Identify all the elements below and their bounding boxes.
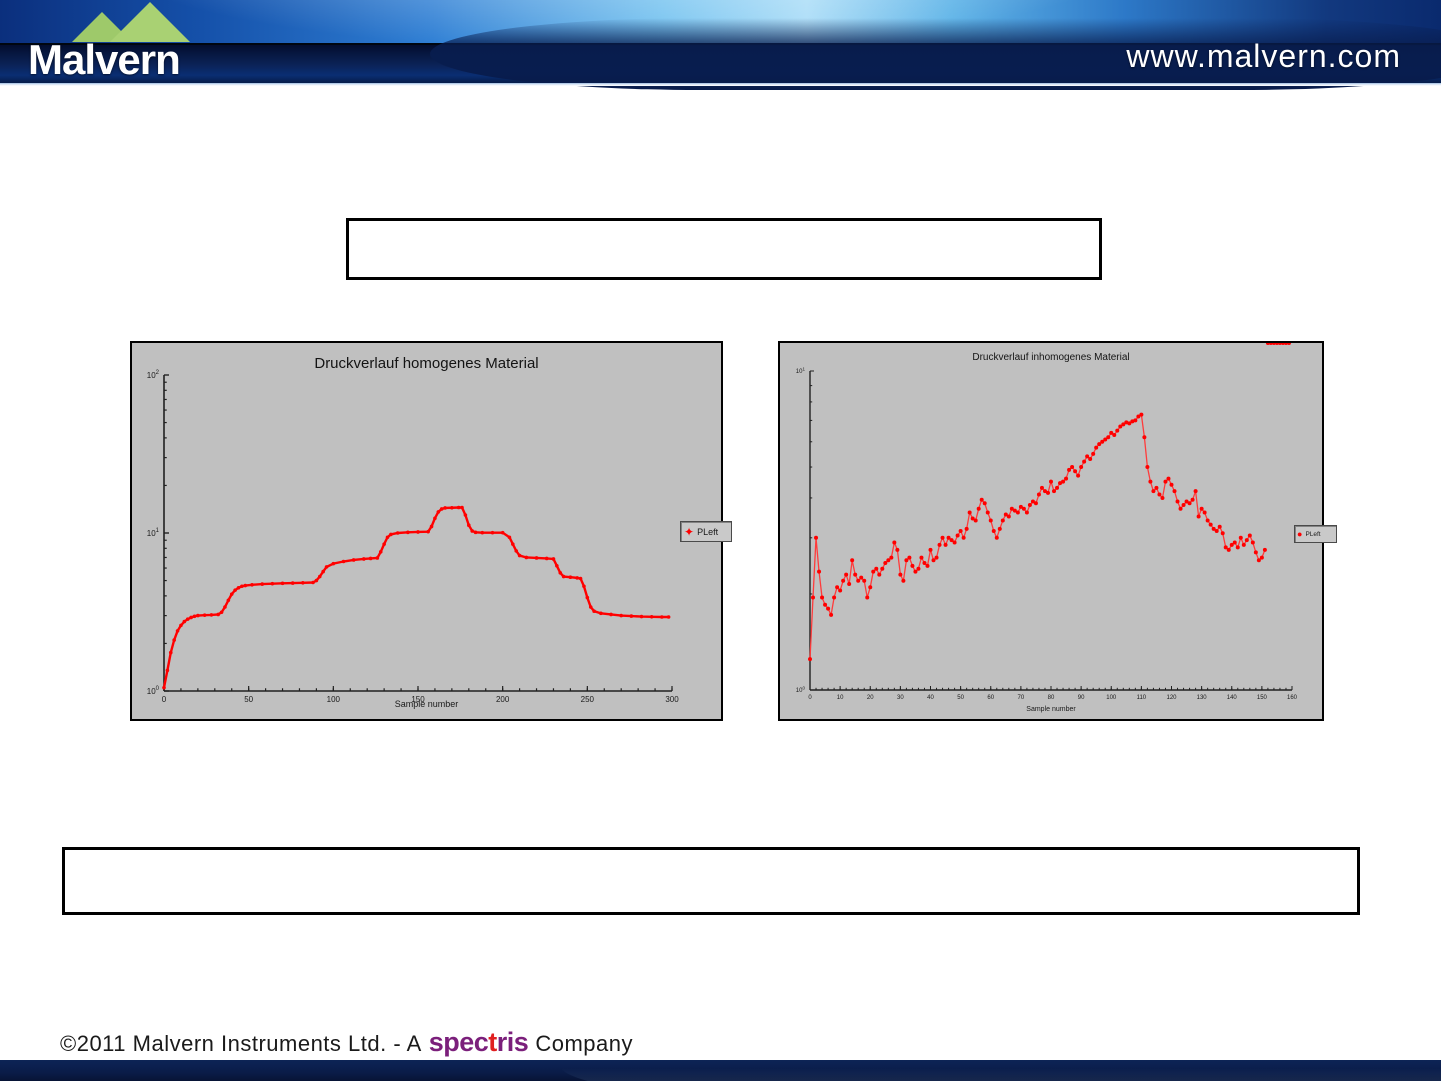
plot-area-right: 0102030405060708090100110120130140150160… xyxy=(780,343,1322,719)
page-header: Malvern www.malvern.com xyxy=(0,0,1441,92)
svg-text:70: 70 xyxy=(1018,695,1025,701)
svg-text:20: 20 xyxy=(867,695,874,701)
svg-text:100: 100 xyxy=(1106,695,1117,701)
spectris-part-t: t xyxy=(488,1027,497,1057)
top-content-textbox[interactable] xyxy=(346,218,1102,280)
x-axis-label-left: Sample number xyxy=(132,699,721,709)
copyright-text: ©2011 Malvern Instruments Ltd. - A xyxy=(60,1031,422,1057)
svg-text:160: 160 xyxy=(1287,695,1298,701)
bottom-content-textbox[interactable] xyxy=(62,847,1360,915)
chart-panel-inhomogeneous: Druckverlauf inhomogenes Material 010203… xyxy=(778,341,1324,721)
footer-band xyxy=(0,1060,1441,1081)
legend-marker-icon: ✦ xyxy=(684,526,694,538)
svg-text:80: 80 xyxy=(1048,695,1055,701)
svg-text:130: 130 xyxy=(1197,695,1208,701)
svg-text:120: 120 xyxy=(1166,695,1177,701)
company-text: Company xyxy=(535,1031,633,1057)
legend-right[interactable]: ● PLeft xyxy=(1294,525,1337,543)
svg-text:0: 0 xyxy=(808,695,812,701)
svg-text:100: 100 xyxy=(147,686,160,696)
chart-panel-homogeneous: Druckverlauf homogenes Material 05010015… xyxy=(130,341,723,721)
svg-text:60: 60 xyxy=(987,695,994,701)
x-axis-label-right: Sample number xyxy=(780,706,1322,713)
svg-text:90: 90 xyxy=(1078,695,1085,701)
svg-text:10: 10 xyxy=(837,695,844,701)
svg-text:150: 150 xyxy=(1257,695,1268,701)
svg-text:101: 101 xyxy=(147,528,160,538)
spectris-logo: spectris xyxy=(429,1027,529,1058)
svg-text:101: 101 xyxy=(796,366,806,375)
svg-text:40: 40 xyxy=(927,695,934,701)
legend-label-right: PLeft xyxy=(1305,531,1320,538)
svg-text:50: 50 xyxy=(957,695,964,701)
plot-area-left: 050100150200250300 100101102 xyxy=(132,343,721,719)
svg-text:140: 140 xyxy=(1227,695,1238,701)
legend-label-left: PLeft xyxy=(697,527,718,537)
brand-wordmark: Malvern xyxy=(28,36,180,84)
svg-text:110: 110 xyxy=(1137,695,1147,701)
svg-text:100: 100 xyxy=(796,685,806,694)
header-bottom-rule xyxy=(0,83,1441,86)
footer-copyright: ©2011 Malvern Instruments Ltd. - A spect… xyxy=(60,1027,633,1058)
website-url: www.malvern.com xyxy=(1126,38,1401,75)
legend-marker-icon: ● xyxy=(1297,530,1302,539)
svg-text:30: 30 xyxy=(897,695,904,701)
footer-curve-shape xyxy=(560,1060,1441,1081)
legend-left[interactable]: ✦ PLeft xyxy=(680,521,732,542)
spectris-part-2: ris xyxy=(497,1027,529,1057)
spectris-part-1: spec xyxy=(429,1027,489,1057)
svg-text:102: 102 xyxy=(147,370,160,380)
